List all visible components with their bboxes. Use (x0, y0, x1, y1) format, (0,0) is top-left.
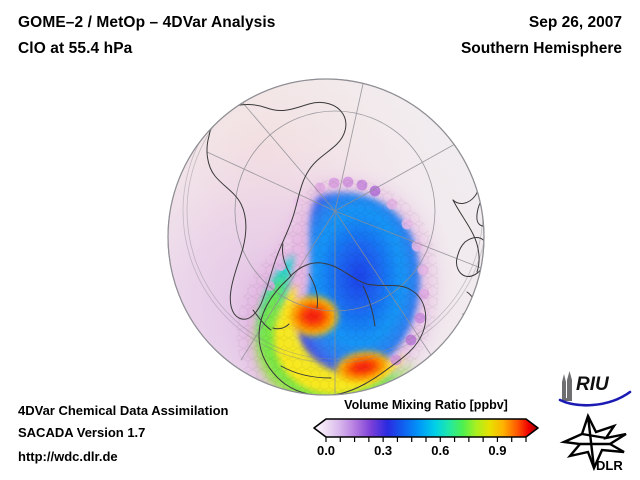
hemisphere-label: Southern Hemisphere (461, 40, 622, 58)
colorbar-tick-3: 0.9 (488, 443, 506, 458)
riu-logo: RIU (556, 368, 636, 410)
colorbar-title: Volume Mixing Ratio [ppbv] (312, 398, 540, 412)
footer-line-assimilation: 4DVar Chemical Data Assimilation (18, 403, 229, 418)
colorbar-tick-0: 0.0 (317, 443, 335, 458)
globe-map (167, 78, 485, 396)
colorbar-tick-1: 0.3 (374, 443, 392, 458)
dlr-wordmark: DLR (596, 458, 623, 473)
figure-canvas: GOME–2 / MetOp – 4DVar Analysis ClO at 5… (0, 0, 640, 480)
colorbar-gradient (312, 417, 540, 443)
species-level-subtitle: ClO at 55.4 hPa (18, 40, 132, 58)
date-label: Sep 26, 2007 (529, 14, 622, 32)
colorbar-tick-labels: 0.00.30.60.9 (312, 443, 540, 461)
colorbar-tick-2: 0.6 (431, 443, 449, 458)
riu-wordmark: RIU (576, 374, 610, 395)
dlr-logo: DLR (558, 412, 636, 474)
colorbar: Volume Mixing Ratio [ppbv] 0.00.30.60.9 (312, 398, 540, 468)
footer-line-url: http://wdc.dlr.de (18, 449, 118, 464)
page-title: GOME–2 / MetOp – 4DVar Analysis (18, 14, 276, 32)
footer-line-version: SACADA Version 1.7 (18, 425, 145, 440)
